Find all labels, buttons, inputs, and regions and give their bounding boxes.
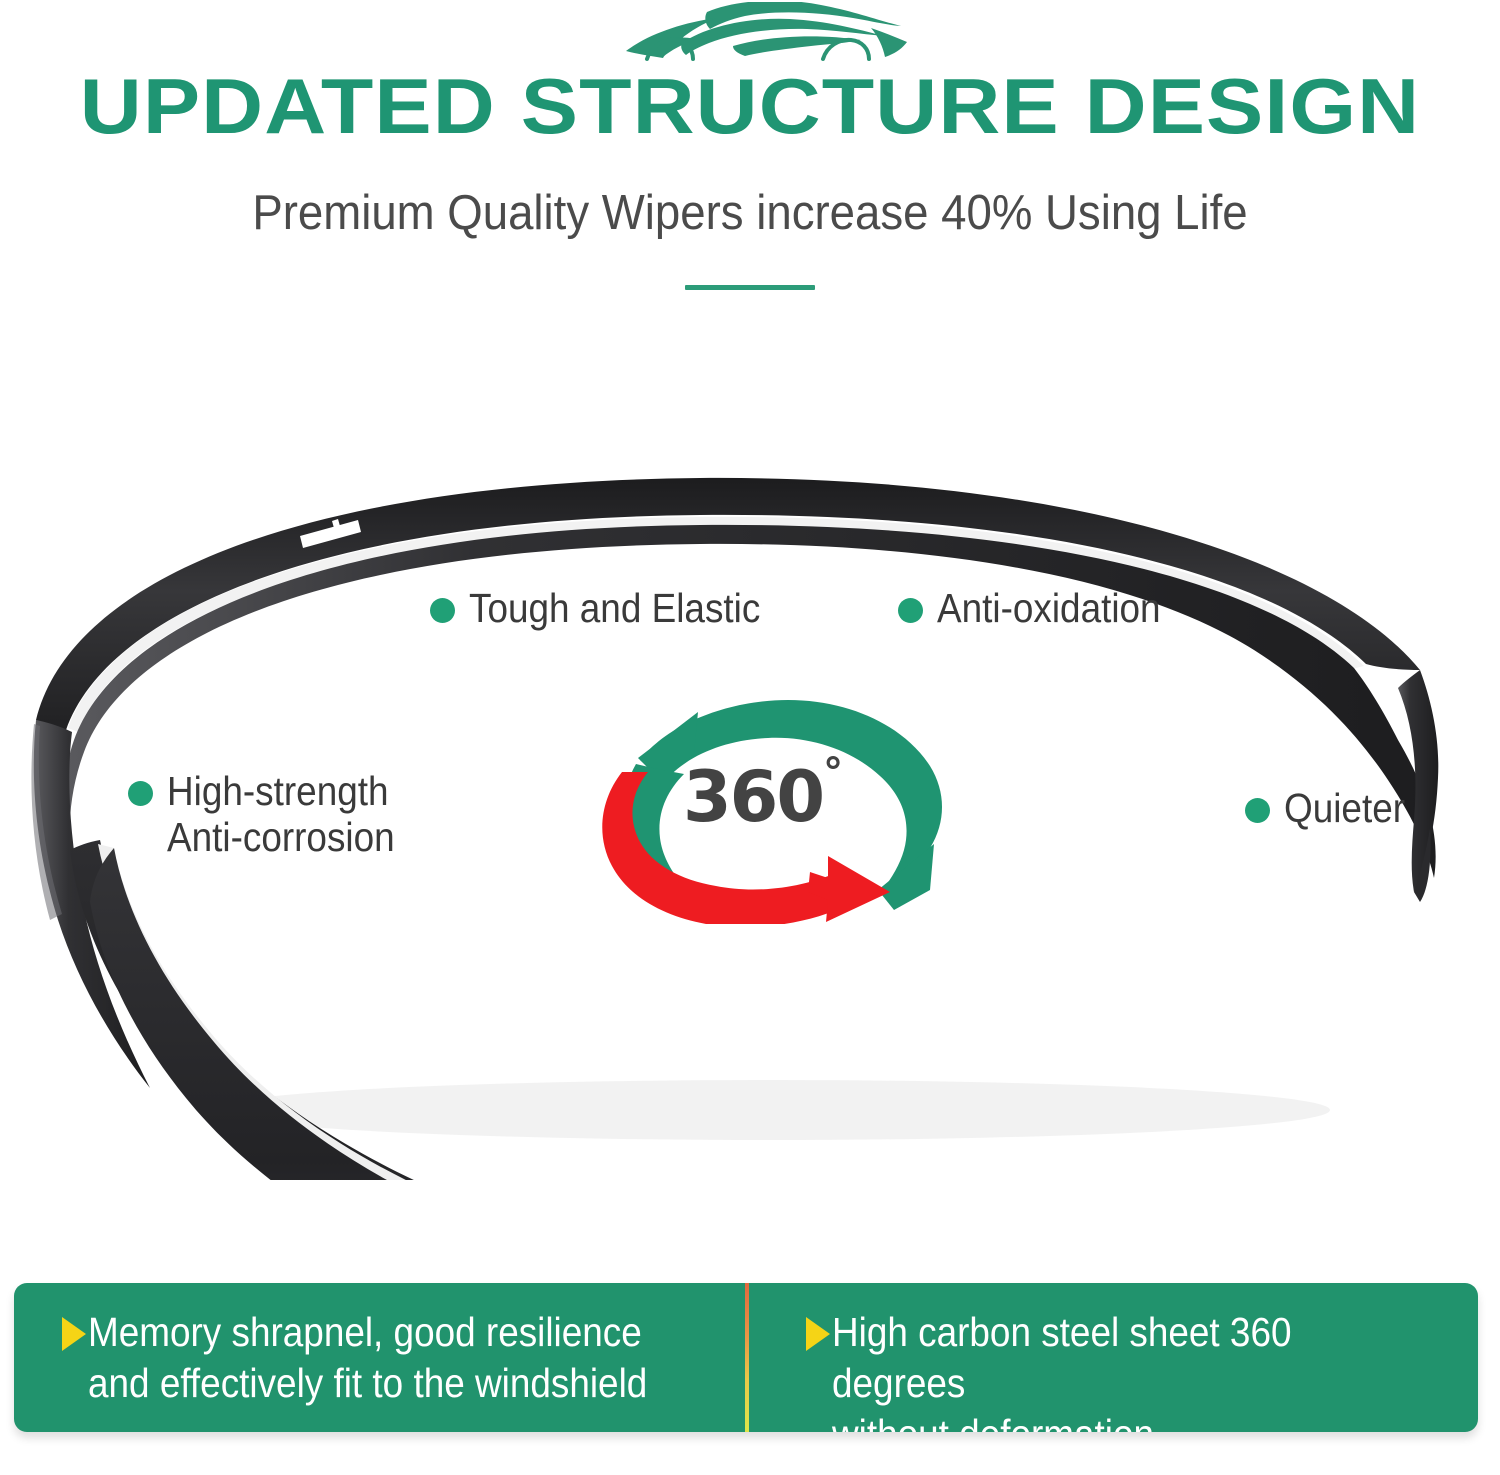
badge-value: 360°	[578, 756, 948, 838]
rotation-360-badge: 360°	[578, 694, 948, 924]
degree-symbol-icon: °	[823, 750, 843, 796]
feature-label: High-strength Anti-corrosion	[167, 768, 395, 860]
banner-divider	[745, 1283, 749, 1432]
bottom-banner-group: Memory shrapnel, good resilience and eff…	[14, 1283, 1478, 1432]
title-divider	[685, 285, 815, 290]
triangle-bullet-icon	[62, 1317, 86, 1351]
bullet-dot-icon	[128, 781, 153, 806]
feature-label: Tough and Elastic	[469, 585, 760, 631]
feature-label: Quieter	[1284, 785, 1405, 831]
bullet-dot-icon	[430, 598, 455, 623]
page-subtitle: Premium Quality Wipers increase 40% Usin…	[53, 183, 1448, 243]
brand-logo	[0, 2, 1500, 64]
page-title: UPDATED STRUCTURE DESIGN	[0, 62, 1500, 150]
badge-number: 360	[683, 756, 823, 838]
bullet-dot-icon	[1245, 798, 1270, 823]
banner-high-carbon-steel: High carbon steel sheet 360 degrees with…	[746, 1283, 1478, 1432]
bullet-dot-icon	[898, 598, 923, 623]
triangle-bullet-icon	[806, 1317, 830, 1351]
feature-anti-oxidation: Anti-oxidation	[898, 585, 1185, 631]
feature-tough-and-elastic: Tough and Elastic	[430, 585, 793, 631]
infographic-page: UPDATED STRUCTURE DESIGN Premium Quality…	[0, 0, 1500, 1475]
banner-memory-shrapnel: Memory shrapnel, good resilience and eff…	[14, 1283, 746, 1432]
feature-quieter: Quieter	[1245, 785, 1418, 831]
banner-text: Memory shrapnel, good resilience and eff…	[88, 1307, 647, 1409]
banner-text: High carbon steel sheet 360 degrees with…	[832, 1307, 1397, 1432]
feature-label: Anti-oxidation	[937, 585, 1161, 631]
sports-car-logo-icon	[585, 2, 915, 64]
feature-high-strength-anti-corrosion: High-strength Anti-corrosion	[128, 768, 420, 860]
